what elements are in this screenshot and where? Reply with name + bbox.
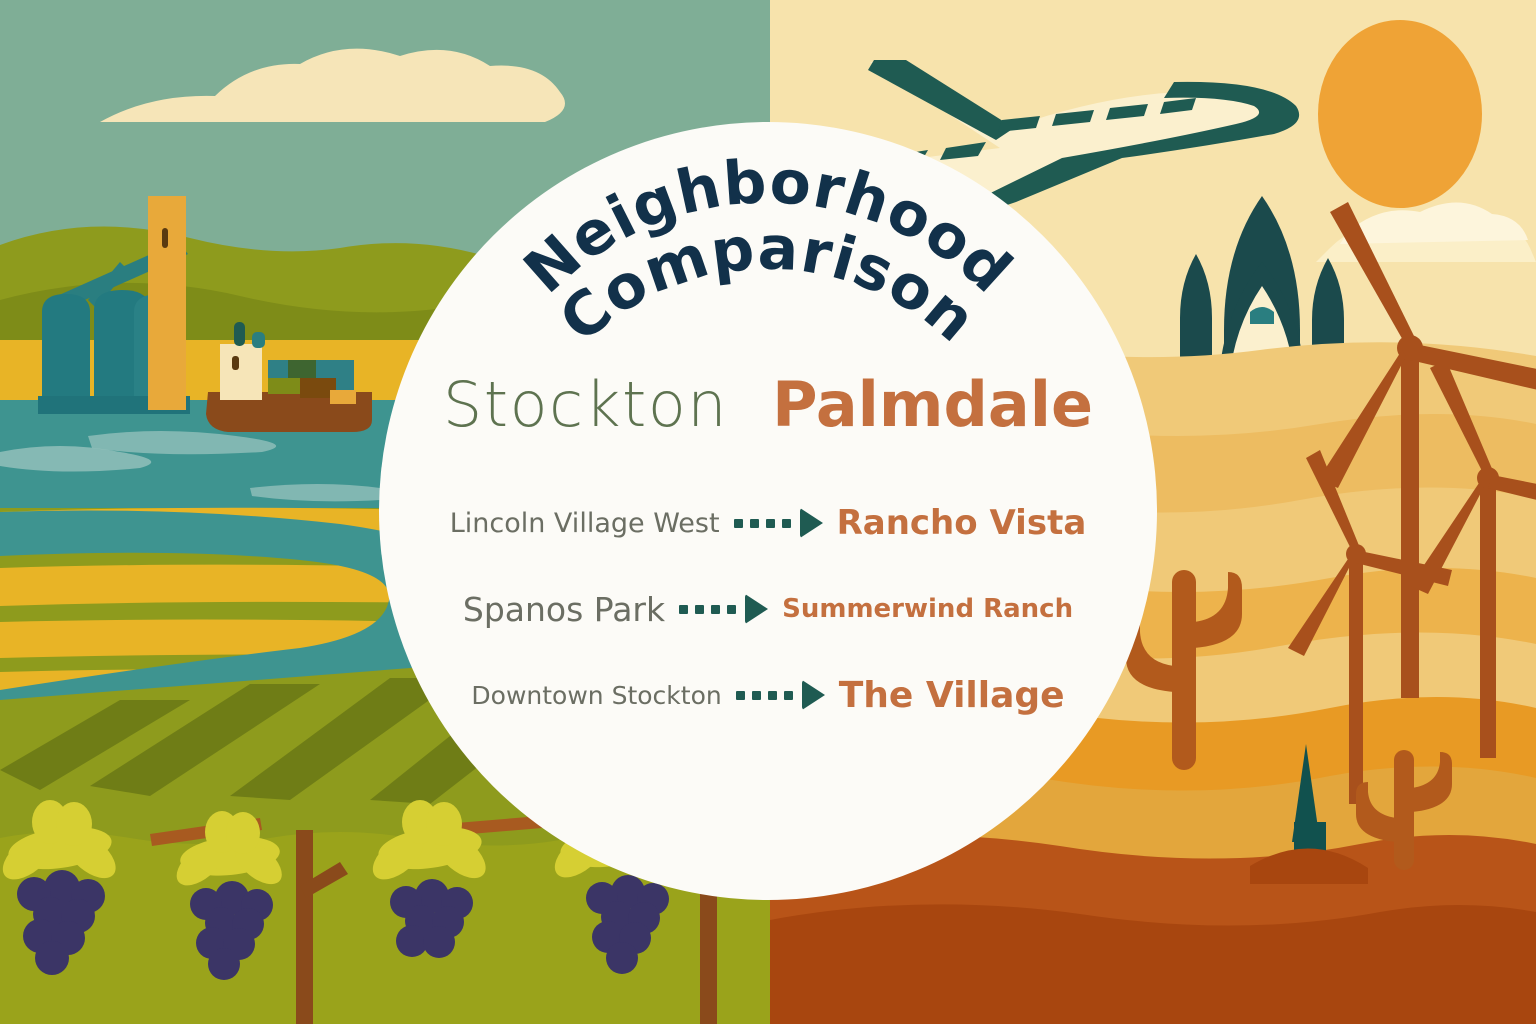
dot-icon	[766, 519, 775, 528]
silo-1	[42, 294, 90, 410]
neighborhood-pairs: Lincoln Village West Rancho Vista Spanos…	[379, 480, 1157, 738]
port-tower	[148, 196, 186, 410]
dot-icon	[679, 605, 688, 614]
poster: Neighborhood Comparison Stockton Palmdal…	[0, 0, 1536, 1024]
dot-icon	[736, 691, 745, 700]
ship-cabin-window	[232, 356, 239, 370]
dot-icon	[750, 519, 759, 528]
dotted-arrow-icon	[734, 508, 823, 538]
city-left: Stockton	[443, 374, 728, 436]
pair-right-label: Summerwind Ranch	[782, 594, 1073, 624]
tower-window	[162, 228, 168, 248]
arrowhead-icon	[802, 680, 825, 710]
ship-funnel	[234, 322, 245, 346]
dotted-arrow-icon	[736, 680, 825, 710]
pair-left-label: Lincoln Village West	[450, 508, 720, 539]
pair-left-label: Downtown Stockton	[471, 681, 721, 710]
arrowhead-icon	[800, 508, 823, 538]
dot-icon	[784, 691, 793, 700]
dot-icon	[711, 605, 720, 614]
pair-right-label: The Village	[839, 675, 1065, 716]
dot-icon	[695, 605, 704, 614]
ship-container-gold	[330, 390, 356, 404]
pair-right-label: Rancho Vista	[837, 503, 1087, 543]
city-headline: Stockton Palmdale	[379, 360, 1157, 450]
ship-container-olive	[268, 378, 302, 394]
pair-row: Downtown Stockton The Village	[379, 652, 1157, 738]
ship-funnel-2	[252, 332, 265, 348]
pair-row: Spanos Park Summerwind Ranch	[379, 566, 1157, 652]
dotted-arrow-icon	[679, 594, 768, 624]
sun-icon	[1318, 20, 1482, 208]
pair-row: Lincoln Village West Rancho Vista	[379, 480, 1157, 566]
arrowhead-icon	[745, 594, 768, 624]
pair-left-label: Spanos Park	[463, 590, 665, 629]
ship-cabin	[220, 344, 262, 400]
dot-icon	[734, 519, 743, 528]
dot-icon	[768, 691, 777, 700]
dot-icon	[752, 691, 761, 700]
city-right: Palmdale	[772, 374, 1093, 436]
dot-icon	[782, 519, 791, 528]
dot-icon	[727, 605, 736, 614]
